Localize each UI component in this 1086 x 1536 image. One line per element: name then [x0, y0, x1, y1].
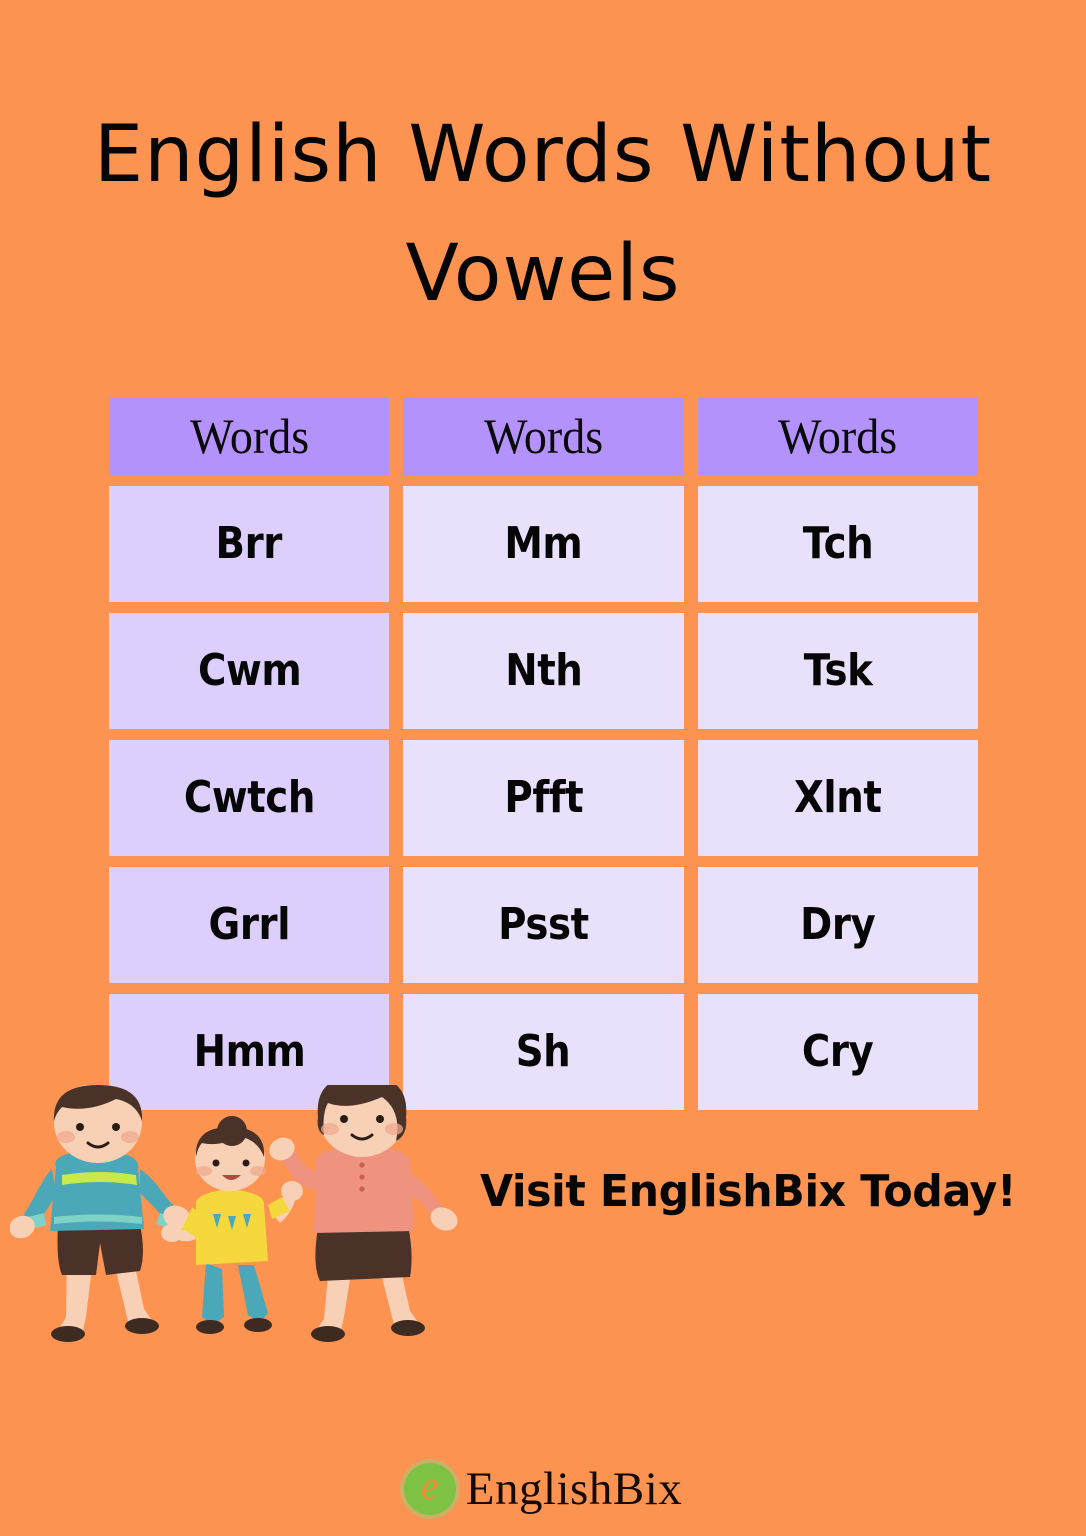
table-cell: Nth: [403, 613, 683, 729]
table-header-label: Words: [190, 411, 309, 461]
character-boy: [10, 1085, 194, 1342]
table-header-label: Words: [484, 411, 603, 461]
table-cell: Cwm: [109, 613, 389, 729]
table-cell: Cwtch: [109, 740, 389, 856]
word-label: Hmm: [193, 1030, 305, 1074]
table-cell: Cry: [698, 994, 978, 1110]
table-cell: Brr: [109, 486, 389, 602]
word-label: Xlnt: [794, 776, 881, 820]
cta-text: Visit EnglishBix Today!: [480, 1166, 1062, 1217]
page-title-line-1: English Words Without: [0, 96, 1086, 215]
brand-name: EnglishBix: [466, 1462, 683, 1516]
table-cell: Grrl: [109, 867, 389, 983]
word-label: Cwtch: [184, 776, 315, 820]
word-label: Nth: [505, 649, 582, 693]
word-label: Mm: [504, 522, 582, 566]
table-cell: Mm: [403, 486, 683, 602]
word-label: Brr: [216, 522, 282, 566]
children-illustration: [10, 1085, 475, 1350]
word-label: Sh: [516, 1030, 571, 1074]
word-label: Tch: [803, 522, 873, 566]
word-label: Pfft: [504, 776, 583, 820]
table-header-cell-1: Words: [109, 397, 389, 475]
word-label: Dry: [800, 903, 875, 947]
table-row: Grrl Psst Dry: [109, 867, 978, 983]
table-cell: Tsk: [698, 613, 978, 729]
table-row: Brr Mm Tch: [109, 486, 978, 602]
footer-logo[interactable]: e EnglishBix: [0, 1462, 1086, 1516]
word-label: Psst: [498, 903, 589, 947]
table-cell: Pfft: [403, 740, 683, 856]
page-title-line-2: Vowels: [0, 215, 1086, 334]
table-cell: Psst: [403, 867, 683, 983]
word-label: Tsk: [803, 649, 872, 693]
table-row: Cwtch Pfft Xlnt: [109, 740, 978, 856]
children-illustration-svg: [10, 1085, 475, 1350]
table-row: Cwm Nth Tsk: [109, 613, 978, 729]
table-header-row: Words Words Words: [109, 397, 978, 475]
table-header-cell-3: Words: [698, 397, 978, 475]
table-header-label: Words: [778, 411, 897, 461]
character-girl: [266, 1085, 462, 1342]
word-label: Grrl: [208, 903, 289, 947]
page-title: English Words Without Vowels: [0, 96, 1086, 333]
table-header-cell-2: Words: [403, 397, 683, 475]
word-label: Cry: [802, 1030, 873, 1074]
englishbix-e-icon: e: [404, 1463, 456, 1515]
table-cell: Tch: [698, 486, 978, 602]
word-label: Cwm: [198, 649, 301, 693]
table-cell: Dry: [698, 867, 978, 983]
words-table: Words Words Words Brr Mm Tch Cwm Nth Tsk…: [109, 397, 978, 1121]
table-cell: Xlnt: [698, 740, 978, 856]
logo-letter: e: [421, 1466, 439, 1506]
